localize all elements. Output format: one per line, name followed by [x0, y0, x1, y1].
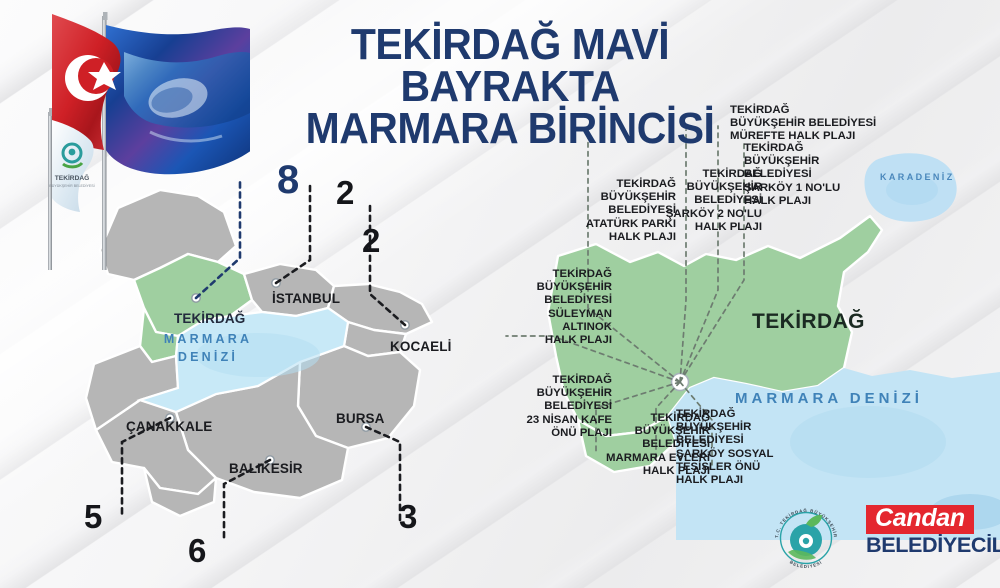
beach-label-murefte: TEKİRDAĞ BÜYÜKŞEHİR BELEDİYESİ MÜREFTE H… — [730, 104, 890, 144]
city-label-tekirdag: TEKİRDAĞ — [174, 311, 245, 326]
infographic-canvas: TEKİRDAĞ BÜYÜKŞEHİR BELEDİYESİ TEKİRDAĞ … — [0, 0, 1000, 588]
candan-belediyecilik-logo: Candan BELEDİYECİLİK — [866, 505, 990, 556]
tekirdag-municipality-seal: T.C. TEKİRDAĞ BÜYÜKŞEHİR BELEDİYESİ — [768, 500, 844, 576]
beach-label-sarkoy-1-nolu: TEKİRDAĞ BÜYÜKŞEHİR BELEDİYESİ ŞARKÖY 1 … — [744, 142, 866, 208]
count-bursa: 3 — [399, 500, 417, 533]
svg-text:BÜYÜKŞEHİR BELEDİYESİ: BÜYÜKŞEHİR BELEDİYESİ — [49, 183, 94, 188]
sea-label-karadeniz: KARADENİZ — [880, 172, 955, 182]
count-balikesir: 6 — [188, 534, 206, 567]
beach-label-suleyman-altinok: TEKİRDAĞ BÜYÜKŞEHİR BELEDİYESİ SÜLEYMAN … — [500, 268, 612, 347]
sea-label-marmara-left: MARMARA DENİZİ — [128, 330, 288, 366]
count-tekirdag: 8 — [277, 160, 299, 200]
sea-label-marmara-right: MARMARA DENİZİ — [735, 390, 923, 407]
title-line-1: TEKİRDAĞ MAVİ BAYRAKTA — [351, 20, 669, 111]
count-kocaeli: 2 — [362, 224, 380, 257]
svg-text:TEKİRDAĞ: TEKİRDAĞ — [55, 173, 89, 182]
city-label-bursa: BURSA — [336, 411, 385, 426]
title-line-2: MARMARA BİRİNCİSİ — [268, 108, 752, 150]
province-istanbul — [244, 264, 334, 316]
city-label-kocaeli: KOCAELİ — [390, 339, 451, 354]
city-label-istanbul: İSTANBUL — [272, 291, 340, 306]
belediyecilik-wordmark: BELEDİYECİLİK — [866, 535, 994, 556]
city-label-balikesir: BALIKESİR — [229, 461, 303, 476]
beach-label-sarkoy-sosyal: TEKİRDAĞ BÜYÜKŞEHİR BELEDİYESİ ŞARKÖY SO… — [676, 408, 798, 487]
page-title: TEKİRDAĞ MAVİ BAYRAKTA MARMARA BİRİNCİSİ — [268, 24, 752, 151]
count-canakkale: 5 — [84, 500, 102, 533]
candan-wordmark: Candan — [866, 505, 974, 534]
city-label-canakkale: ÇANAKKALE — [126, 419, 212, 434]
province-label-tekirdag: TEKİRDAĞ — [752, 310, 865, 334]
flags-photo: TEKİRDAĞ BÜYÜKŞEHİR BELEDİYESİ — [0, 0, 250, 270]
count-istanbul: 2 — [336, 176, 354, 209]
